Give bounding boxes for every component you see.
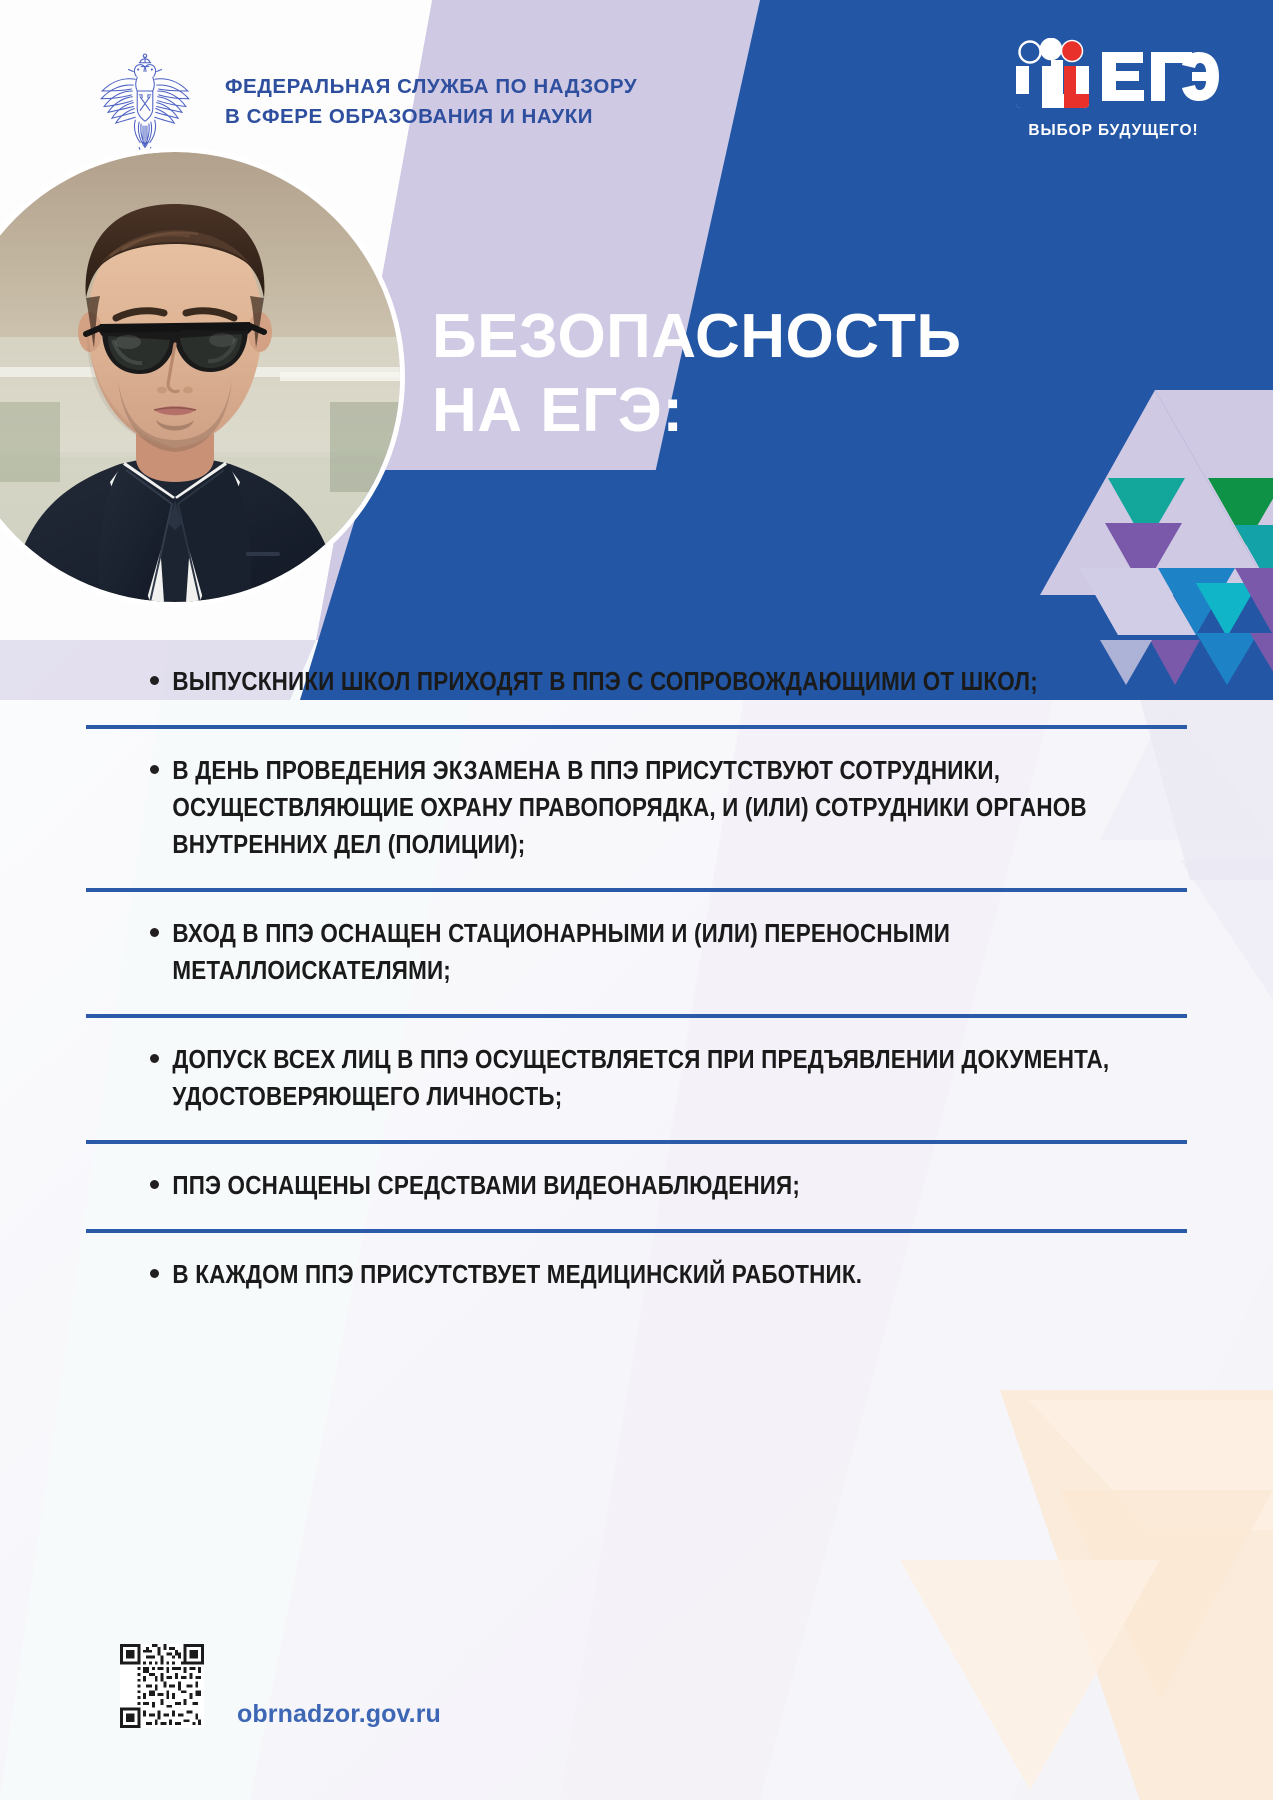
page-title: БЕЗОПАСНОСТЬ НА ЕГЭ:: [432, 300, 961, 448]
list-item-text: ППЭ ОСНАЩЕНЫ СРЕДСТВАМИ ВИДЕОНАБЛЮДЕНИЯ;: [146, 1168, 1147, 1205]
ege-slogan: ВЫБОР БУДУЩЕГО!: [1006, 122, 1221, 140]
list-item-text: В КАЖДОМ ППЭ ПРИСУТСТВУЕТ МЕДИЦИНСКИЙ РА…: [146, 1257, 1147, 1294]
list-item-text: В ДЕНЬ ПРОВЕДЕНИЯ ЭКЗАМЕНА В ППЭ ПРИСУТС…: [146, 753, 1147, 864]
list-item: ВЫПУСКНИКИ ШКОЛ ПРИХОДЯТ В ППЭ С СОПРОВО…: [0, 640, 1273, 725]
poster-footer: obrnadzor.gov.ru: [0, 1636, 1273, 1766]
list-item: ВХОД В ППЭ ОСНАЩЕН СТАЦИОНАРНЫМИ И (ИЛИ)…: [0, 892, 1273, 1014]
ege-logo-mark-icon: [1006, 38, 1221, 118]
list-item: В КАЖДОМ ППЭ ПРИСУТСТВУЕТ МЕДИЦИНСКИЙ РА…: [0, 1233, 1273, 1318]
site-url-link[interactable]: obrnadzor.gov.ru: [237, 1700, 441, 1729]
list-item-text: ВХОД В ППЭ ОСНАЩЕН СТАЦИОНАРНЫМИ И (ИЛИ)…: [146, 916, 1147, 990]
page-title-line1: БЕЗОПАСНОСТЬ: [432, 302, 961, 371]
double-headed-eagle-icon: [96, 52, 194, 164]
qr-code-icon[interactable]: [120, 1644, 204, 1728]
page-title-line2: НА ЕГЭ:: [432, 374, 961, 448]
list-item: ДОПУСК ВСЕХ ЛИЦ В ППЭ ОСУЩЕСТВЛЯЕТСЯ ПРИ…: [0, 1018, 1273, 1140]
agency-name-line2: В СФЕРЕ ОБРАЗОВАНИЯ И НАУКИ: [225, 102, 637, 132]
list-item-text: ВЫПУСКНИКИ ШКОЛ ПРИХОДЯТ В ППЭ С СОПРОВО…: [146, 664, 1147, 701]
list-item-text: ДОПУСК ВСЕХ ЛИЦ В ППЭ ОСУЩЕСТВЛЯЕТСЯ ПРИ…: [146, 1042, 1147, 1116]
list-item: В ДЕНЬ ПРОВЕДЕНИЯ ЭКЗАМЕНА В ППЭ ПРИСУТС…: [0, 729, 1273, 888]
rosobrnadzor-eagle-emblem-icon: [96, 52, 194, 164]
poster-root: ФЕДЕРАЛЬНАЯ СЛУЖБА ПО НАДЗОРУ В СФЕРЕ ОБ…: [0, 0, 1273, 1800]
rules-list: ВЫПУСКНИКИ ШКОЛ ПРИХОДЯТ В ППЭ С СОПРОВО…: [0, 640, 1273, 1318]
list-item: ППЭ ОСНАЩЕНЫ СРЕДСТВАМИ ВИДЕОНАБЛЮДЕНИЯ;: [0, 1144, 1273, 1229]
agency-name-line1: ФЕДЕРАЛЬНАЯ СЛУЖБА ПО НАДЗОРУ: [225, 72, 637, 102]
agency-name: ФЕДЕРАЛЬНАЯ СЛУЖБА ПО НАДЗОРУ В СФЕРЕ ОБ…: [225, 72, 637, 132]
ege-logo: ВЫБОР БУДУЩЕГО!: [1006, 38, 1221, 150]
